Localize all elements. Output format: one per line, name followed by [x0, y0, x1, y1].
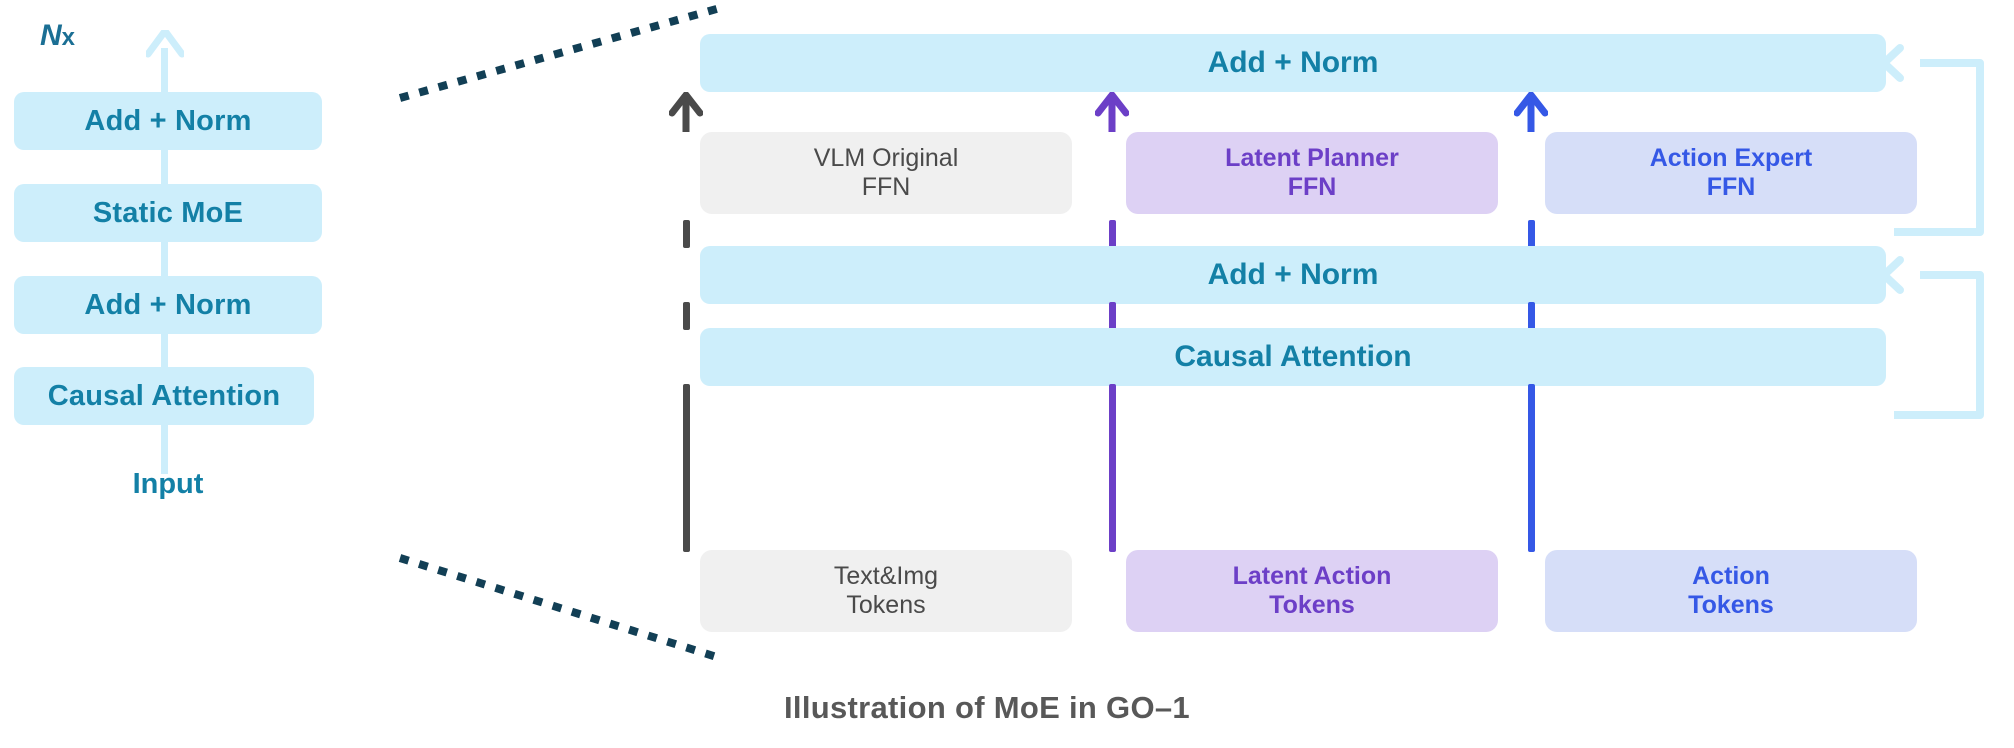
ffn-expert-line1: Action Expert	[1650, 144, 1813, 174]
left-flow-line-segment	[161, 241, 168, 277]
left-flow-line-segment	[161, 48, 168, 94]
connector-text-tokens-to-attn	[683, 384, 690, 552]
ffn-expert-line2: FFN	[1707, 173, 1756, 203]
arrow-up-latent-planner-icon	[1095, 92, 1129, 132]
connector-latent-tokens-to-attn	[1109, 384, 1116, 552]
diagram-caption: Illustration of MoE in GO–1	[700, 690, 1886, 726]
token-box-action[interactable]: Action Tokens	[1545, 550, 1917, 632]
left-flow-line-segment	[161, 424, 168, 474]
left-block-static-moe[interactable]: Static MoE	[14, 184, 322, 242]
token-text-line2: Tokens	[846, 591, 925, 621]
connector-planner-ffn-to-norm	[1109, 220, 1116, 248]
ffn-vlm-line2: FFN	[862, 173, 911, 203]
repeat-count-n: N	[40, 19, 62, 52]
ffn-planner-line1: Latent Planner	[1225, 144, 1399, 174]
right-block-add-norm-mid[interactable]: Add + Norm	[700, 246, 1886, 304]
diagram-canvas: Nx Add + Norm Static MoE Add + Norm Caus…	[0, 0, 2014, 748]
arrow-up-action-expert-icon	[1514, 92, 1548, 132]
token-text-line1: Text&Img	[834, 562, 938, 592]
ffn-vlm-line1: VLM Original	[814, 144, 959, 174]
left-flow-line-segment	[161, 333, 168, 368]
ffn-box-action-expert[interactable]: Action Expert FFN	[1545, 132, 1917, 214]
ffn-box-latent-planner[interactable]: Latent Planner FFN	[1126, 132, 1498, 214]
left-flow-line-segment	[161, 149, 168, 185]
token-action-line1: Action	[1692, 562, 1770, 592]
connector-planner-norm-to-attn	[1109, 302, 1116, 330]
connector-vlm-norm-to-attn	[683, 302, 690, 330]
token-box-text-img[interactable]: Text&Img Tokens	[700, 550, 1072, 632]
token-box-latent-action[interactable]: Latent Action Tokens	[1126, 550, 1498, 632]
repeat-count-x: x	[62, 24, 75, 51]
left-block-add-norm-top[interactable]: Add + Norm	[14, 92, 322, 150]
connector-action-tokens-to-attn	[1528, 384, 1535, 552]
token-action-line2: Tokens	[1688, 591, 1774, 621]
dotted-connector-bottom	[390, 548, 730, 668]
token-latent-line2: Tokens	[1269, 591, 1355, 621]
repeat-count-label: Nx	[40, 19, 75, 53]
left-block-add-norm-bottom[interactable]: Add + Norm	[14, 276, 322, 334]
ffn-box-vlm-original[interactable]: VLM Original FFN	[700, 132, 1072, 214]
left-input-label: Input	[14, 468, 322, 501]
right-block-causal-attention[interactable]: Causal Attention	[700, 328, 1886, 386]
token-latent-line1: Latent Action	[1233, 562, 1392, 592]
right-block-add-norm-top[interactable]: Add + Norm	[700, 34, 1886, 92]
diagram-caption-text: Illustration of MoE in GO–1	[700, 690, 1190, 725]
left-block-causal-attention[interactable]: Causal Attention	[14, 367, 314, 425]
connector-expert-ffn-to-norm	[1528, 220, 1535, 248]
connector-expert-norm-to-attn	[1528, 302, 1535, 330]
arrow-up-vlm-icon	[669, 92, 703, 132]
ffn-planner-line2: FFN	[1288, 173, 1337, 203]
connector-vlm-ffn-to-norm	[683, 220, 690, 248]
